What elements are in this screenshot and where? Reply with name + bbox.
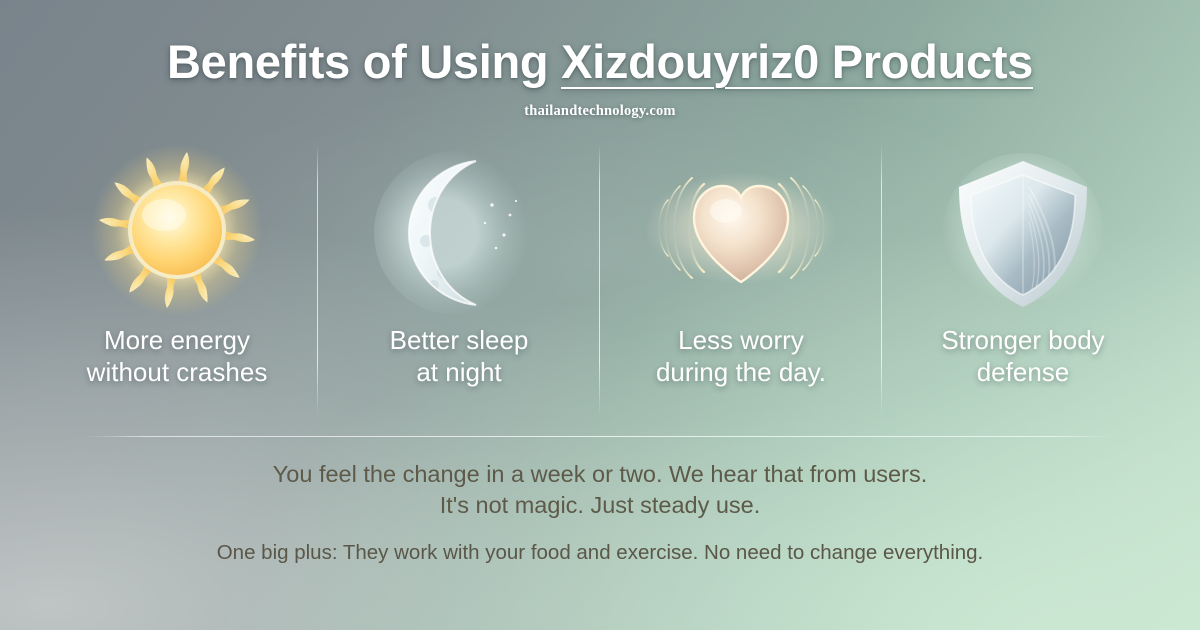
infographic-poster: Benefits of Using Xizdouyriz0 Products t… — [0, 0, 1200, 630]
benefit-column-energy: More energy without crashes — [36, 138, 318, 428]
title-prefix: Benefits of Using — [167, 35, 561, 88]
moon-icon — [318, 138, 600, 324]
title-brand: Xizdouyriz0 Products — [561, 35, 1033, 88]
benefits-row: More energy without crashes — [0, 138, 1200, 428]
benefit-caption: Better sleep at night — [384, 324, 535, 389]
benefit-caption: More energy without crashes — [81, 324, 274, 389]
benefit-caption: Less worry during the day. — [650, 324, 832, 389]
footer-sub-text: One big plus: They work with your food a… — [0, 540, 1200, 567]
sun-icon — [36, 138, 318, 324]
shield-icon — [882, 138, 1164, 324]
heart-icon — [600, 138, 882, 324]
site-domain: thailandtechnology.com — [0, 103, 1200, 120]
benefit-caption: Stronger body defense — [935, 324, 1110, 389]
poster-header: Benefits of Using Xizdouyriz0 Products t… — [0, 0, 1200, 120]
benefit-column-calm: Less worry during the day. — [600, 138, 882, 428]
benefit-column-defense: Stronger body defense — [882, 138, 1164, 428]
page-title: Benefits of Using Xizdouyriz0 Products — [0, 36, 1200, 89]
footer-main-text: You feel the change in a week or two. We… — [0, 459, 1200, 522]
benefit-column-sleep: Better sleep at night — [318, 138, 600, 428]
poster-footer: You feel the change in a week or two. We… — [0, 437, 1200, 566]
